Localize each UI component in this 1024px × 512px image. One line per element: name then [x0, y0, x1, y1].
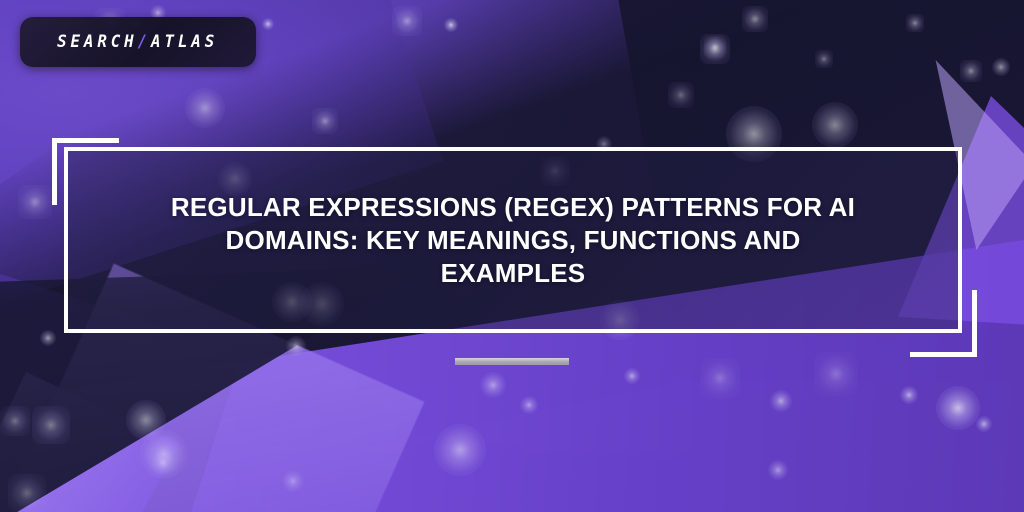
bokeh-square: [32, 406, 70, 444]
bokeh-orb: [520, 396, 538, 414]
bokeh-orb: [444, 18, 458, 32]
bokeh-orb: [262, 18, 274, 30]
bokeh-orb: [976, 416, 992, 432]
bokeh-square: [148, 448, 178, 478]
bokeh-orb: [900, 386, 918, 404]
bokeh-orb: [282, 470, 304, 492]
bokeh-square: [0, 406, 30, 436]
logo-text: SEARCH/ATLAS: [57, 32, 218, 52]
bokeh-orb: [770, 390, 792, 412]
bokeh-orb: [768, 460, 788, 480]
bokeh-square: [312, 108, 338, 134]
bokeh-orb: [140, 430, 188, 478]
bokeh-square: [814, 352, 858, 396]
bokeh-orb: [480, 372, 506, 398]
bokeh-orb: [40, 330, 56, 346]
bokeh-square: [668, 82, 694, 108]
logo-text-before: SEARCH: [57, 32, 138, 52]
bokeh-square: [815, 50, 833, 68]
logo-separator: /: [138, 32, 151, 52]
hero-banner: SEARCH/ATLAS REGULAR EXPRESSIONS (REGEX)…: [0, 0, 1024, 512]
bokeh-square: [700, 358, 740, 398]
bokeh-orb: [126, 400, 166, 440]
divider-bar: [455, 358, 569, 365]
bokeh-square: [906, 14, 924, 32]
page-title-line-2: DOMAINS: KEY MEANINGS, FUNCTIONS AND: [171, 224, 855, 257]
bokeh-orb: [286, 336, 306, 356]
bokeh-orb: [434, 424, 486, 476]
bokeh-orb: [936, 386, 980, 430]
bokeh-orb: [624, 368, 640, 384]
bokeh-orb: [992, 58, 1010, 76]
bokeh-square: [960, 60, 982, 82]
logo-text-after: ATLAS: [151, 32, 218, 52]
bokeh-orb: [812, 102, 858, 148]
bokeh-square: [8, 474, 46, 512]
page-title-line-1: REGULAR EXPRESSIONS (REGEX) PATTERNS FOR…: [171, 191, 855, 224]
bokeh-square: [700, 34, 730, 64]
bokeh-orb: [185, 88, 225, 128]
bokeh-square: [18, 185, 52, 219]
page-title: REGULAR EXPRESSIONS (REGEX) PATTERNS FOR…: [147, 191, 879, 290]
search-atlas-logo[interactable]: SEARCH/ATLAS: [20, 17, 256, 67]
bokeh-square: [704, 36, 726, 58]
bokeh-square: [742, 6, 768, 32]
page-title-line-3: EXAMPLES: [171, 257, 855, 290]
title-frame: REGULAR EXPRESSIONS (REGEX) PATTERNS FOR…: [64, 147, 962, 333]
bokeh-square: [392, 6, 422, 36]
